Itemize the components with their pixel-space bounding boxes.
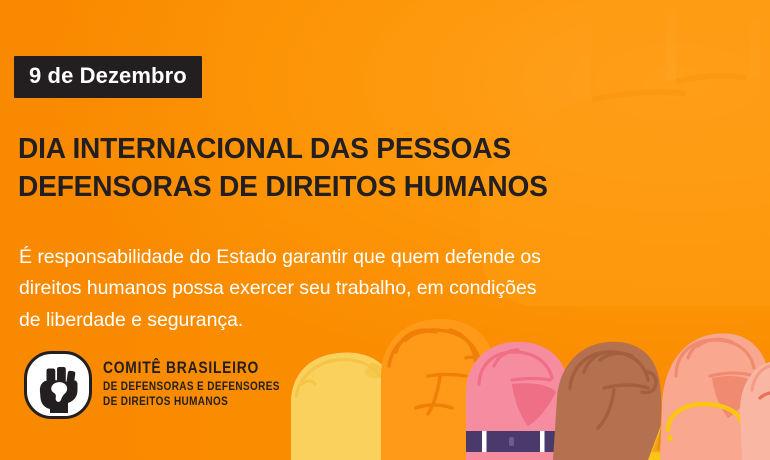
organization-name-line-2: DE DEFENSORAS E DEFENSORES bbox=[103, 380, 280, 395]
body-copy: É responsabilidade do Estado garantir qu… bbox=[19, 242, 659, 337]
organization-logo: COMITÊ BRASILEIRO DE DEFENSORAS E DEFENS… bbox=[24, 351, 309, 419]
body-copy-line-2: direitos humanos possa exercer seu traba… bbox=[19, 273, 659, 305]
organization-name-line-3: DE DIREITOS HUMANOS bbox=[103, 395, 280, 410]
date-badge: 9 de Dezembro bbox=[14, 56, 202, 98]
organization-logo-text: COMITÊ BRASILEIRO DE DEFENSORAS E DEFENS… bbox=[103, 360, 309, 409]
page-title: DIA INTERNACIONAL DAS PESSOAS DEFENSORAS… bbox=[18, 131, 658, 206]
page-title-line-2: DEFENSORAS DE DIREITOS HUMANOS bbox=[18, 169, 658, 207]
organization-name-line-1: COMITÊ BRASILEIRO bbox=[103, 360, 276, 377]
raised-fist-brazil-map-icon bbox=[24, 351, 92, 419]
banner-root: 9 de Dezembro DIA INTERNACIONAL DAS PESS… bbox=[0, 0, 770, 460]
page-title-line-1: DIA INTERNACIONAL DAS PESSOAS bbox=[18, 133, 511, 165]
body-copy-line-3: de liberdade e segurança. bbox=[19, 305, 659, 337]
body-copy-line-1: É responsabilidade do Estado garantir qu… bbox=[19, 242, 659, 274]
